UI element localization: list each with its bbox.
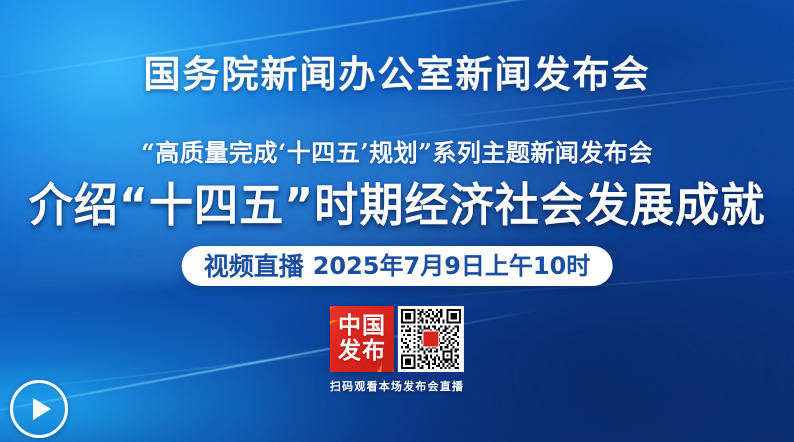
live-badge-datetime: 2025年7月9日上午10时 <box>313 254 591 278</box>
china-release-logo: 中国 发布 <box>330 306 394 372</box>
play-button[interactable] <box>10 380 68 438</box>
main-title: 国务院新闻办公室新闻发布会 <box>0 56 794 93</box>
broadcast-poster: 国务院新闻办公室新闻发布会 “高质量完成‘十四五’规划”系列主题新闻发布会 介绍… <box>0 0 794 442</box>
brand-logo-line-2: 发布 <box>338 339 386 364</box>
qr-code[interactable] <box>398 306 464 372</box>
play-triangle-icon <box>33 398 51 420</box>
qr-center-brand-mark <box>422 331 439 348</box>
qr-section: 中国 发布 <box>330 306 464 394</box>
poster-content: 国务院新闻办公室新闻发布会 “高质量完成‘十四五’规划”系列主题新闻发布会 介绍… <box>0 0 794 442</box>
scan-caption: 扫码观看本场发布会直播 <box>330 378 464 394</box>
series-subtitle: “高质量完成‘十四五’规划”系列主题新闻发布会 <box>0 141 794 165</box>
live-badge-label: 视频直播 <box>204 254 304 279</box>
topic-headline: 介绍“十四五”时期经济社会发展成就 <box>16 182 778 228</box>
brand-logo-line-1: 中国 <box>338 314 386 339</box>
live-broadcast-badge: 视频直播 2025年7月9日上午10时 <box>182 246 613 286</box>
qr-row: 中国 发布 <box>330 306 464 372</box>
